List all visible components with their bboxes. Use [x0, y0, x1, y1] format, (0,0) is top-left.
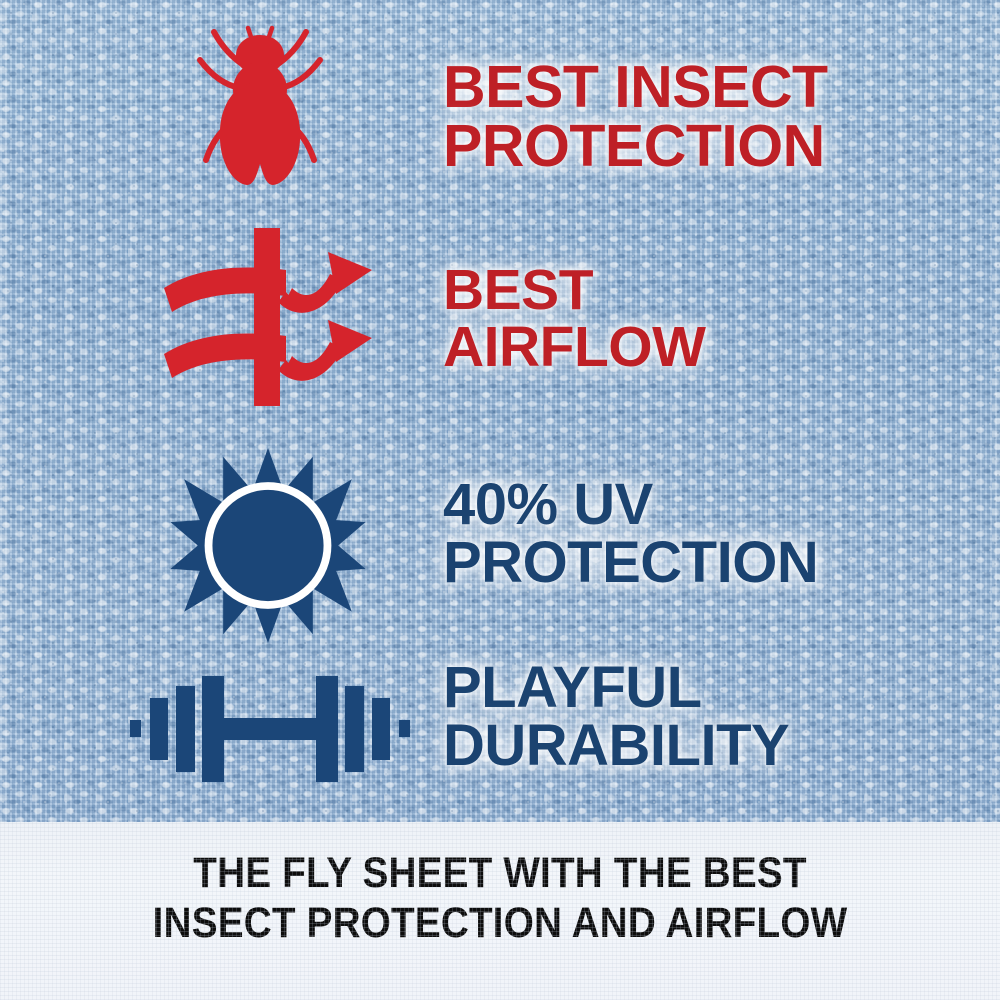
- feature-label-uv-protection: 40% UV PROTECTION: [443, 476, 818, 592]
- airflow-icon: [160, 226, 390, 408]
- feature-label-playful-durability: PLAYFUL DURABILITY: [443, 659, 789, 775]
- product-feature-poster: BEST INSECT PROTECTION BEST AIRFLOW: [0, 0, 1000, 1000]
- caption-headline: THE FLY SHEET WITH THE BEST INSECT PROTE…: [50, 848, 950, 949]
- feature-label-best-insect-protection: BEST INSECT PROTECTION: [443, 58, 828, 176]
- caption-band: THE FLY SHEET WITH THE BEST INSECT PROTE…: [0, 822, 1000, 1000]
- dumbbell-icon: [130, 668, 410, 788]
- fly-icon: [190, 22, 330, 197]
- feature-label-best-airflow: BEST AIRFLOW: [443, 262, 705, 376]
- sun-icon: [168, 448, 368, 643]
